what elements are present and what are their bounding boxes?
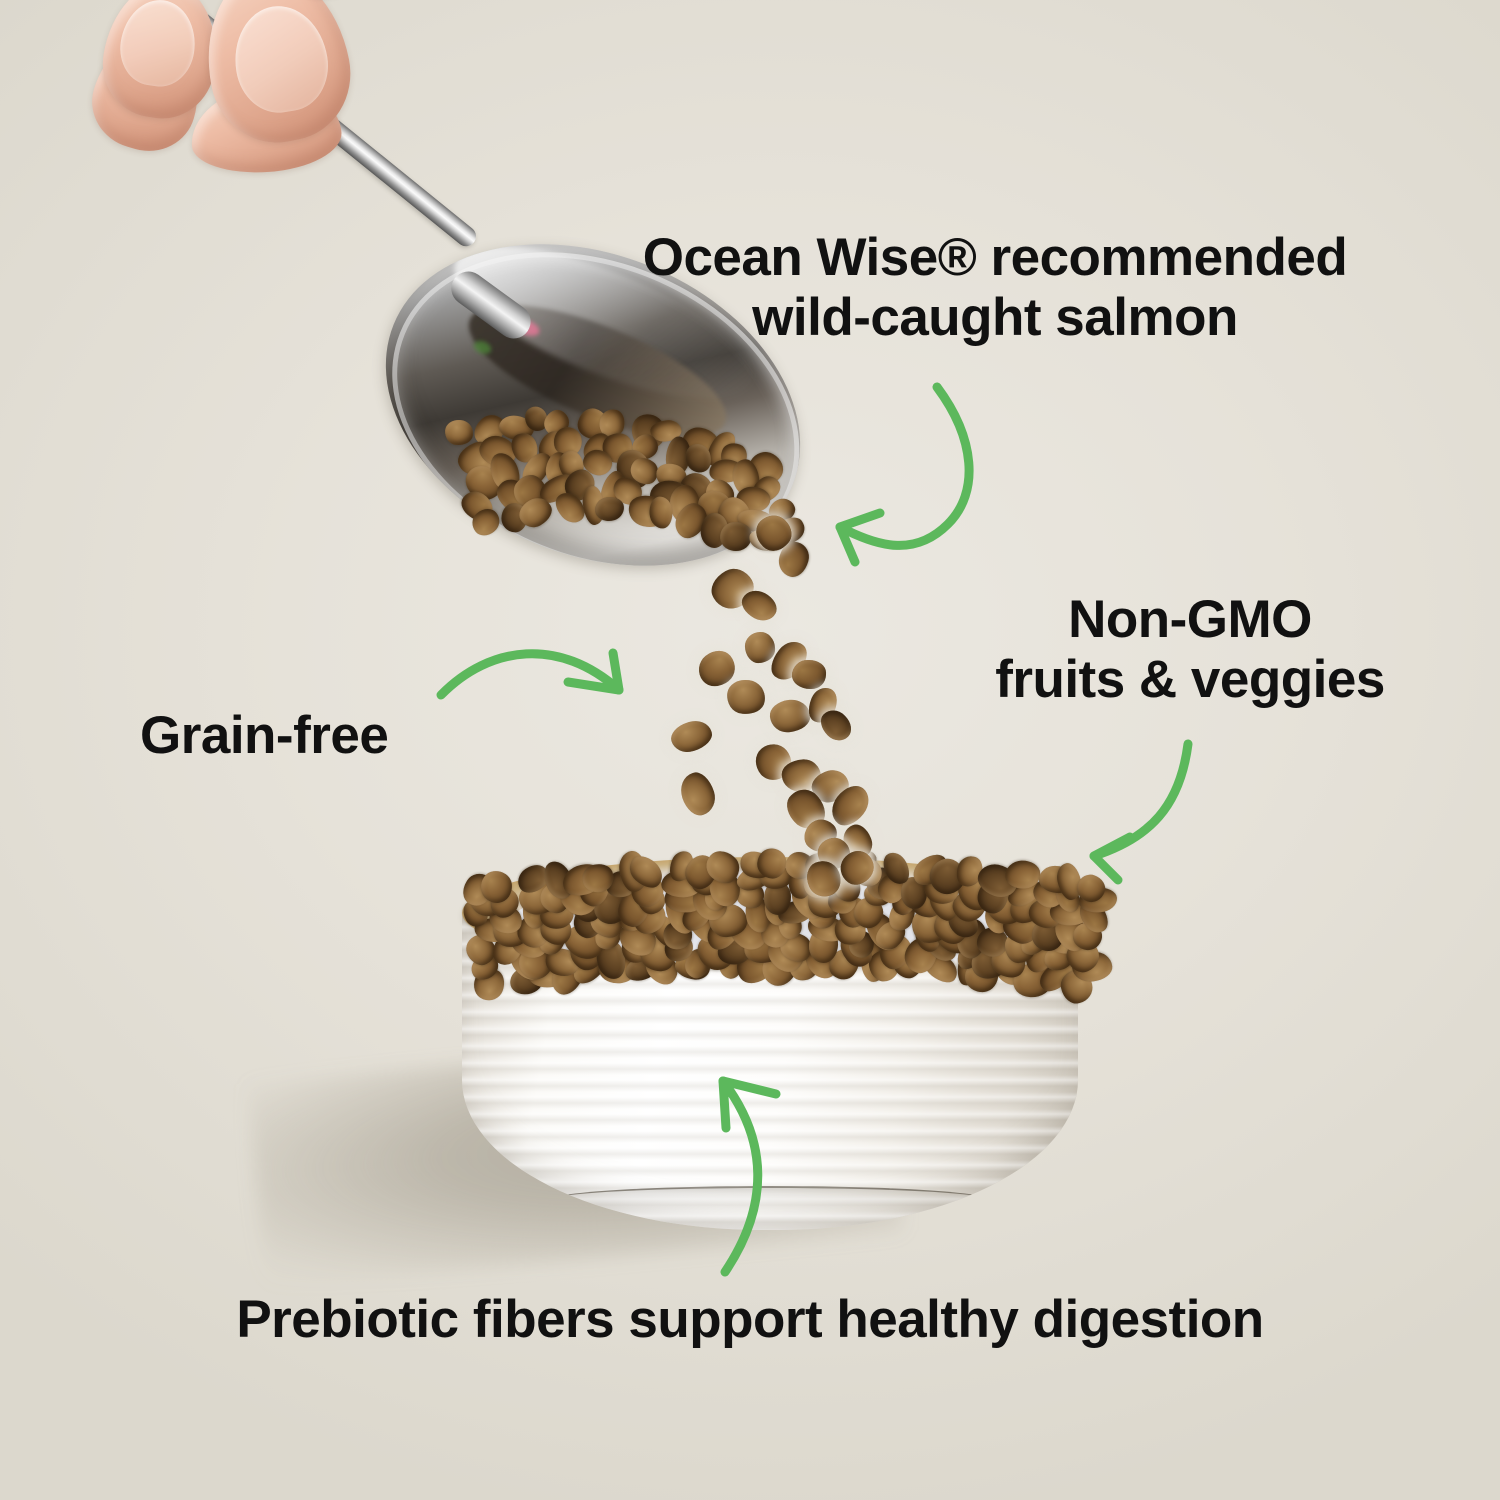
- callout-prebiotic-fibers: Prebiotic fibers support healthy digesti…: [100, 1290, 1400, 1350]
- kibble-piece: [792, 660, 827, 690]
- kibble-piece: [725, 678, 767, 717]
- kibble-piece: [768, 698, 811, 734]
- kibble-piece: [749, 508, 798, 557]
- kibble-piece: [676, 768, 720, 819]
- kibble-piece: [668, 717, 715, 757]
- product-feature-graphic: Ocean Wise® recommended wild-caught salm…: [0, 0, 1500, 1500]
- hand-holding-spoon: [95, 0, 415, 150]
- kibble-piece: [744, 631, 775, 663]
- callout-grain-free: Grain-free: [140, 706, 520, 766]
- callout-non-gmo-fruits-veggies: Non-GMO fruits & veggies: [935, 590, 1445, 710]
- callout-ocean-wise-salmon: Ocean Wise® recommended wild-caught salm…: [560, 228, 1430, 348]
